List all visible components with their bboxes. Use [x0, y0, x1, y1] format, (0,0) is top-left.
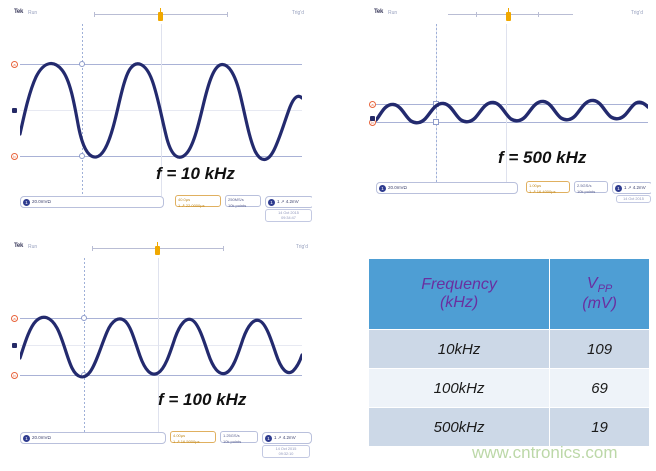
trigger-ruler-tick-right — [223, 246, 224, 251]
trigger-ruler-tick-left — [94, 12, 95, 17]
run-status: Run — [388, 10, 397, 16]
channel-1-ground-marker-icon[interactable] — [12, 108, 17, 113]
record-length: 10k points — [223, 439, 255, 445]
scope-bottom-bar: 1 20.0mVΩ 1.00µs 1 ↗ 16.4000µs 2.5GS/s 1… — [366, 180, 651, 214]
horizontal-readout[interactable]: 4.00µs 1 ↗ 16.5000µs — [170, 431, 216, 443]
table-row: 10kHz 109 — [369, 330, 650, 369]
table-row: 100kHz 69 — [369, 369, 650, 408]
site-watermark: www.cntronics.com — [472, 443, 617, 463]
oscilloscope-screen-100khz: Tek Run Trig'd a b — [6, 240, 316, 464]
channel-1-readout[interactable]: 1 20.0mVΩ — [20, 432, 166, 444]
trigger-level: 1 ↗ 4.2mV — [624, 185, 646, 191]
frequency-label: f = 100 kHz — [158, 390, 246, 410]
channel-1-scale: 20.0mVΩ — [32, 435, 51, 440]
horizontal-readout[interactable]: 1.00µs 1 ↗ 16.4000µs — [526, 181, 570, 193]
horizontal-delay: 1 ↗ 16.4000µs — [529, 189, 567, 195]
trigger-ruler-tick-right — [227, 12, 228, 17]
cell-frequency-10khz: 10kHz — [369, 330, 550, 369]
datetime-readout: 14 Oct 2015 09:34:47 — [265, 209, 312, 222]
trigger-status: Trig'd — [296, 244, 308, 250]
header-vpp-unit: (mV) — [550, 295, 649, 313]
header-vpp-subscript: PP — [598, 283, 613, 295]
channel-1-scale: 20.0mVΩ — [32, 199, 51, 204]
oscilloscope-screen-500khz: Tek Run Trig'd a b — [366, 6, 651, 214]
trigger-position-marker[interactable] — [506, 12, 511, 21]
table-row: 500kHz 19 — [369, 408, 650, 447]
trigger-source-badge: 1 — [268, 199, 275, 206]
scope-bottom-bar: 1 20.0mVΩ 4.00µs 1 ↗ 16.5000µs 1.25GS/s … — [6, 430, 316, 464]
channel-1-badge: 1 — [23, 199, 30, 206]
trigger-position-marker[interactable] — [155, 246, 160, 255]
channel-1-readout[interactable]: 1 20.0mVΩ — [376, 182, 518, 194]
cursor-marker-bottom-icon[interactable]: b — [11, 372, 18, 379]
cell-frequency-100khz: 100kHz — [369, 369, 550, 408]
cursor-marker-top-icon[interactable]: a — [11, 315, 18, 322]
acquisition-readout[interactable]: 250MS/s 10k points — [225, 195, 261, 207]
trigger-ruler-tick-left — [476, 12, 477, 17]
frequency-label: f = 10 kHz — [156, 164, 235, 184]
results-table: Frequency (kHz) VPP (mV) 10kHz 109 100kH… — [368, 258, 650, 447]
trigger-position-marker[interactable] — [158, 12, 163, 21]
trigger-source-badge: 1 — [615, 185, 622, 192]
tek-logo: Tek — [374, 9, 383, 15]
table-header-vpp: VPP (mV) — [550, 259, 650, 330]
channel-1-badge: 1 — [379, 185, 386, 192]
cell-frequency-500khz: 500kHz — [369, 408, 550, 447]
record-length: 10k points — [577, 189, 605, 195]
channel-1-scale: 20.0mVΩ — [388, 185, 407, 190]
trigger-readout[interactable]: 1 1 ↗ 4.2mV — [612, 182, 651, 194]
tek-logo: Tek — [14, 9, 23, 15]
cursor-marker-top-icon[interactable]: a — [11, 61, 18, 68]
channel-1-badge: 1 — [23, 435, 30, 442]
horizontal-readout[interactable]: 40.0µs 1 ↗ 22.0000µs — [175, 195, 221, 207]
cell-vpp-100khz: 69 — [550, 369, 650, 408]
trigger-ruler-tick-left — [92, 246, 93, 251]
trigger-status: Trig'd — [631, 10, 643, 16]
date-text: 14 Oct 2015 — [619, 197, 648, 202]
scope-top-bar: Tek Run Trig'd — [366, 6, 651, 22]
run-status: Run — [28, 10, 37, 16]
header-vpp-main: VPP — [550, 275, 649, 295]
run-status: Run — [28, 244, 37, 250]
table-header-frequency: Frequency (kHz) — [369, 259, 550, 330]
channel-1-readout[interactable]: 1 20.0mVΩ — [20, 196, 164, 208]
acquisition-readout[interactable]: 2.5GS/s 10k points — [574, 181, 608, 193]
tek-logo: Tek — [14, 243, 23, 249]
trigger-level: 1 ↗ 4.2mV — [277, 199, 299, 205]
trigger-status: Trig'd — [292, 10, 304, 16]
horizontal-delay: 1 ↗ 22.0000µs — [178, 203, 218, 209]
scope-top-bar: Tek Run Trig'd — [6, 6, 312, 22]
datetime-readout: 14 Oct 2015 — [616, 195, 651, 203]
header-frequency-main: Frequency — [369, 276, 549, 294]
header-frequency-unit: (kHz) — [369, 294, 549, 312]
scope-top-bar: Tek Run Trig'd — [6, 240, 316, 256]
acquisition-readout[interactable]: 1.25GS/s 10k points — [220, 431, 258, 443]
trigger-ruler-tick-right — [538, 12, 539, 17]
channel-1-ground-marker-icon[interactable] — [370, 116, 375, 121]
time-text: 09:34:47 — [268, 216, 309, 221]
horizontal-delay: 1 ↗ 16.5000µs — [173, 439, 213, 445]
frequency-label: f = 500 kHz — [498, 148, 586, 168]
oscilloscope-screen-10khz: Tek Run Trig'd a b — [6, 6, 312, 228]
trigger-level: 1 ↗ 4.2mV — [274, 435, 296, 441]
time-text: 09:32:10 — [265, 452, 307, 457]
trigger-readout[interactable]: 1 1 ↗ 4.2mV — [265, 196, 312, 208]
trigger-readout[interactable]: 1 1 ↗ 4.2mV — [262, 432, 312, 444]
record-length: 10k points — [228, 203, 258, 209]
datetime-readout: 14 Oct 2015 09:32:10 — [262, 445, 310, 458]
scope-bottom-bar: 1 20.0mVΩ 40.0µs 1 ↗ 22.0000µs 250MS/s 1… — [6, 194, 312, 228]
cell-vpp-10khz: 109 — [550, 330, 650, 369]
trigger-source-badge: 1 — [265, 435, 272, 442]
table-header-row: Frequency (kHz) VPP (mV) — [369, 259, 650, 330]
channel-1-ground-marker-icon[interactable] — [12, 343, 17, 348]
cell-vpp-500khz: 19 — [550, 408, 650, 447]
cursor-marker-bottom-icon[interactable]: b — [11, 153, 18, 160]
cursor-marker-top-icon[interactable]: a — [369, 101, 376, 108]
